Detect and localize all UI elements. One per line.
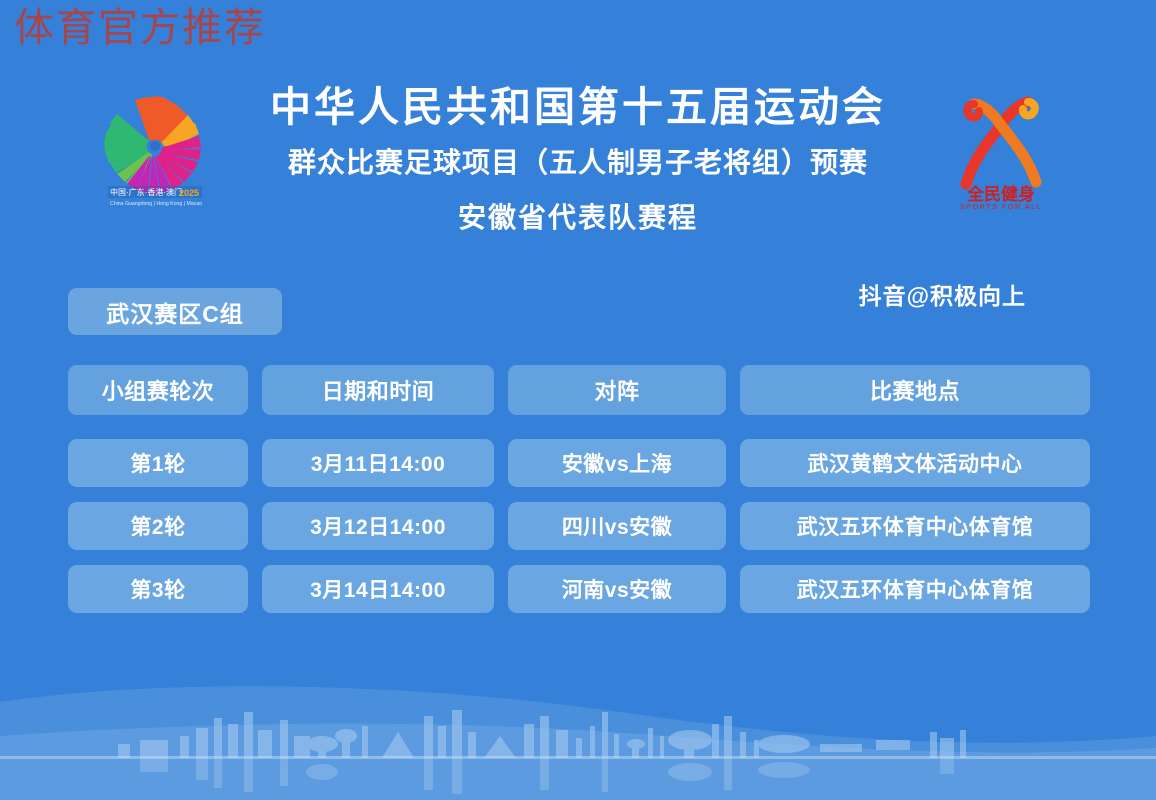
cell-venue: 武汉五环体育中心体育馆 [740,565,1090,613]
table-row: 第3轮 3月14日14:00 河南vs安徽 武汉五环体育中心体育馆 [68,565,1090,613]
title-block: 中华人民共和国第十五届运动会 群众比赛足球项目（五人制男子老将组）预赛 安徽省代… [228,78,928,236]
column-header-round: 小组赛轮次 [68,365,248,415]
column-header-venue: 比赛地点 [740,365,1090,415]
cell-datetime: 3月11日14:00 [262,439,494,487]
poster-header: 中国·广东·香港·澳门 2025 China Guangdong | Hong … [0,78,1156,278]
svg-text:2025: 2025 [179,188,199,198]
poster-canvas: 体育官方推荐 [0,0,1156,800]
national-games-emblem-icon: 中国·广东·香港·澳门 2025 China Guangdong | Hong … [96,86,214,212]
table-row: 第2轮 3月12日14:00 四川vs安徽 武汉五环体育中心体育馆 [68,502,1090,550]
cell-datetime: 3月14日14:00 [262,565,494,613]
author-credit: 抖音@积极向上 [859,277,1026,311]
cell-datetime: 3月12日14:00 [262,502,494,550]
cell-venue: 武汉五环体育中心体育馆 [740,502,1090,550]
cell-venue: 武汉黄鹤文体活动中心 [740,439,1090,487]
cell-round: 第2轮 [68,502,248,550]
watermark-text: 体育官方推荐 [14,6,266,50]
group-badge: 武汉赛区C组 [68,288,282,335]
svg-text:SPORTS FOR ALL: SPORTS FOR ALL [960,202,1042,210]
svg-text:中国·广东·香港·澳门: 中国·广东·香港·澳门 [110,187,182,197]
table-row: 第1轮 3月11日14:00 安徽vs上海 武汉黄鹤文体活动中心 [68,439,1090,487]
cell-matchup: 安徽vs上海 [508,439,726,487]
table-header-row: 小组赛轮次 日期和时间 对阵 比赛地点 [68,365,1090,415]
cell-matchup: 河南vs安徽 [508,565,726,613]
cell-round: 第1轮 [68,439,248,487]
cell-round: 第3轮 [68,565,248,613]
cell-matchup: 四川vs安徽 [508,502,726,550]
page-title: 中华人民共和国第十五届运动会 [228,82,928,133]
column-header-matchup: 对阵 [508,365,726,415]
column-header-datetime: 日期和时间 [262,365,494,415]
sports-for-all-icon: 全民健身 SPORTS FOR ALL [940,88,1062,210]
event-subtitle: 群众比赛足球项目（五人制男子老将组）预赛 [228,145,928,181]
city-skyline-decoration [0,640,1156,800]
team-schedule-subtitle: 安徽省代表队赛程 [228,200,928,236]
schedule-table: 小组赛轮次 日期和时间 对阵 比赛地点 第1轮 3月11日14:00 安徽vs上… [68,365,1090,613]
svg-text:China Guangdong | Hong Kong |: China Guangdong | Hong Kong | Macao [110,201,202,207]
svg-text:全民健身: 全民健身 [966,184,1035,204]
